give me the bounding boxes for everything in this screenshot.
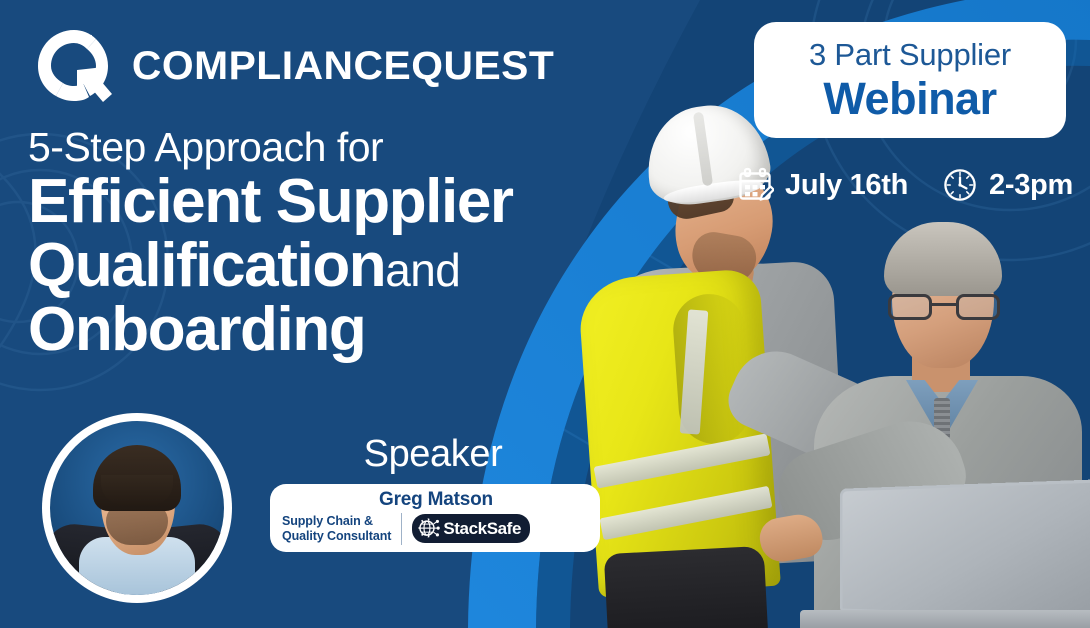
headline-line-2-light: and [385,244,460,296]
headline-pre: 5-Step Approach for [28,126,638,168]
divider [401,513,402,545]
stacksafe-wordmark: StackSafe [443,519,521,539]
speaker-label: Speaker [278,433,588,476]
webinar-time: 2-3pm [989,169,1073,202]
speaker-role-line-2: Quality Consultant [282,529,391,544]
speaker-card: Greg Matson Supply Chain & Quality Consu… [270,484,600,552]
brand-name: COMPLIANCEQUEST [132,44,554,89]
speaker-role: Supply Chain & Quality Consultant [282,514,391,544]
stacksafe-logo: StackSafe [412,514,530,543]
badge-line-1: 3 Part Supplier [809,39,1011,70]
headline-line-1: Efficient Supplier [28,170,638,234]
laptop [800,484,1090,628]
clock-icon [942,167,978,203]
headline-line-3: Onboarding [28,298,638,362]
page-title: 5-Step Approach for Efficient Supplier Q… [28,126,638,362]
webinar-badge: 3 Part Supplier Webinar [754,22,1066,138]
compliancequest-q-mark-icon [30,26,122,106]
headline-line-2-bold: Qualification [28,231,385,300]
schedule-row: July 16th 2-3pm [736,166,1073,204]
avatar [42,413,232,603]
badge-line-2: Webinar [823,76,996,121]
calendar-icon [736,166,774,204]
webinar-banner: COMPLIANCEQUEST 5-Step Approach for Effi… [0,0,1090,628]
speaker-name: Greg Matson [282,490,590,510]
speaker-role-line-1: Supply Chain & [282,514,391,529]
webinar-date: July 16th [785,169,908,202]
eyeglasses-icon [888,294,1000,320]
brand-logo[interactable]: COMPLIANCEQUEST [30,26,550,106]
stacksafe-gear-globe-icon [417,517,440,540]
